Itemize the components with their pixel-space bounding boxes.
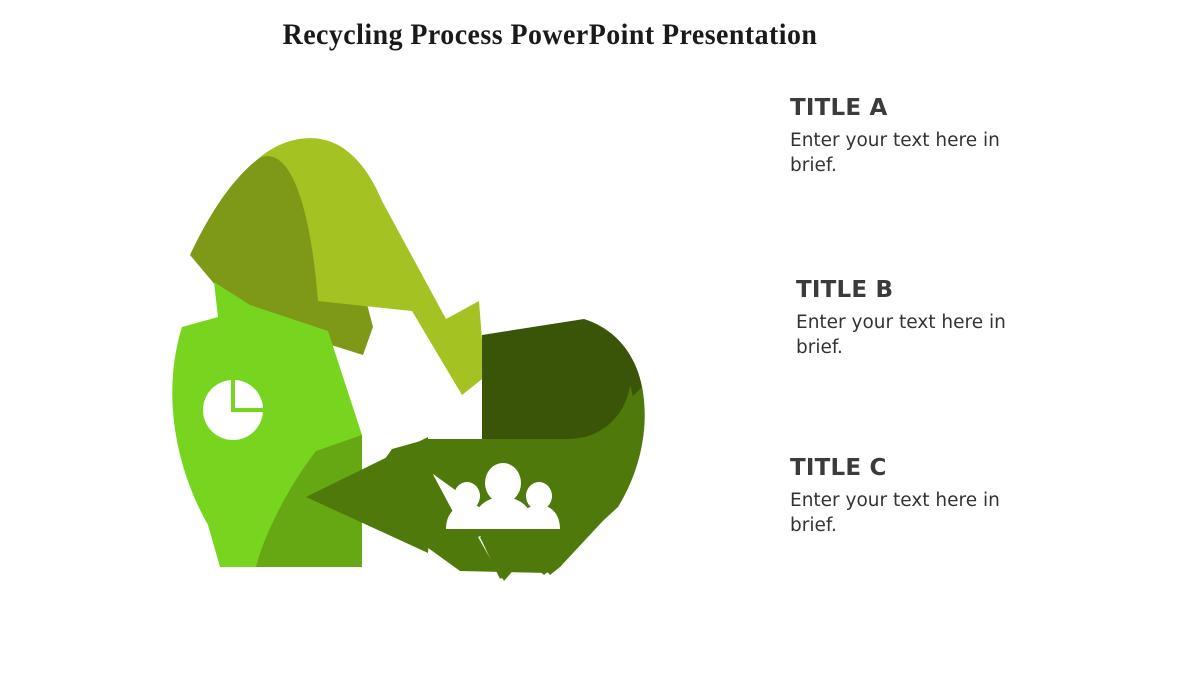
page-title: Recycling Process PowerPoint Presentatio… xyxy=(39,18,1062,52)
content-block-c-title: TITLE C xyxy=(790,456,1040,481)
content-block-b-title: TITLE B xyxy=(796,278,1046,303)
presentation-slide: Recycling Process PowerPoint Presentatio… xyxy=(0,0,1200,675)
content-block-c[interactable]: TITLE C Enter your text here in brief. xyxy=(790,456,1040,539)
content-block-b[interactable]: TITLE B Enter your text here in brief. xyxy=(796,278,1046,361)
content-block-a-title: TITLE A xyxy=(790,96,1040,121)
content-block-b-body: Enter your text here in brief. xyxy=(796,311,1046,361)
recycling-diagram xyxy=(130,105,690,605)
content-block-c-body: Enter your text here in brief. xyxy=(790,489,1040,539)
content-block-a[interactable]: TITLE A Enter your text here in brief. xyxy=(790,96,1040,179)
bar-chart-growth-icon xyxy=(417,175,501,257)
content-block-a-body: Enter your text here in brief. xyxy=(790,129,1040,179)
